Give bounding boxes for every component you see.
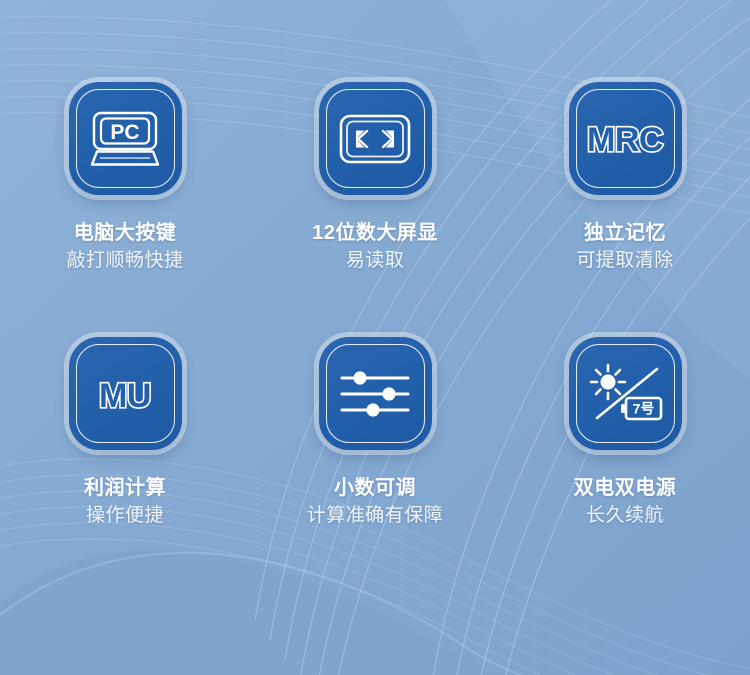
feature-icon-tile	[319, 337, 432, 450]
feature-subtitle: 计算准确有保障	[307, 504, 444, 528]
feature-icon-tile	[319, 82, 432, 195]
feature-icon-tile: PC	[69, 82, 182, 195]
feature-grid-page: PC 电脑大按键 敲打顺畅快捷	[0, 0, 750, 675]
feature-title: 电脑大按键	[66, 221, 183, 246]
feature-subtitle: 操作便捷	[84, 504, 166, 528]
feature-icon-tile: MU	[69, 337, 182, 450]
feature-title: 独立记忆	[576, 221, 674, 246]
solar-battery-icon: 7号	[587, 363, 663, 425]
mu-icon-label: MU	[99, 377, 151, 415]
pc-keyboard-icon: PC	[88, 110, 162, 168]
feature-item-big-screen: 12位数大屏显 易读取	[250, 0, 500, 273]
feature-captions: 双电双电源 长久续航	[574, 476, 677, 528]
feature-subtitle: 长久续航	[574, 504, 677, 528]
battery-size-label: 7号	[633, 400, 655, 416]
decimal-slider-icon	[339, 370, 411, 418]
features-grid: PC 电脑大按键 敲打顺畅快捷	[0, 0, 750, 675]
pc-icon-label: PC	[110, 121, 139, 144]
feature-title: 小数可调	[307, 476, 444, 501]
feature-title: 双电双电源	[574, 476, 677, 501]
feature-title: 12位数大屏显	[312, 221, 438, 246]
feature-icon-tile: MRC	[569, 82, 682, 195]
feature-icon-tile: 7号	[569, 337, 682, 450]
feature-item-pc: PC 电脑大按键 敲打顺畅快捷	[0, 0, 250, 273]
feature-captions: 小数可调 计算准确有保障	[307, 476, 444, 528]
sun-icon	[591, 365, 625, 399]
big-screen-expand-icon	[339, 114, 411, 164]
mrc-icon-label: MRC	[587, 121, 663, 159]
feature-item-mu: MU 利润计算 操作便捷	[0, 255, 250, 528]
feature-item-mrc: MRC 独立记忆 可提取清除	[500, 0, 750, 273]
feature-item-decimal: 小数可调 计算准确有保障	[250, 255, 500, 528]
battery-icon: 7号	[621, 398, 661, 419]
feature-item-dual-power: 7号 双电双电源 长久续航	[500, 255, 750, 528]
feature-title: 利润计算	[84, 476, 166, 501]
mrc-memory-icon: MRC	[582, 117, 668, 161]
feature-captions: 利润计算 操作便捷	[84, 476, 166, 528]
mu-markup-icon: MU	[86, 370, 164, 418]
